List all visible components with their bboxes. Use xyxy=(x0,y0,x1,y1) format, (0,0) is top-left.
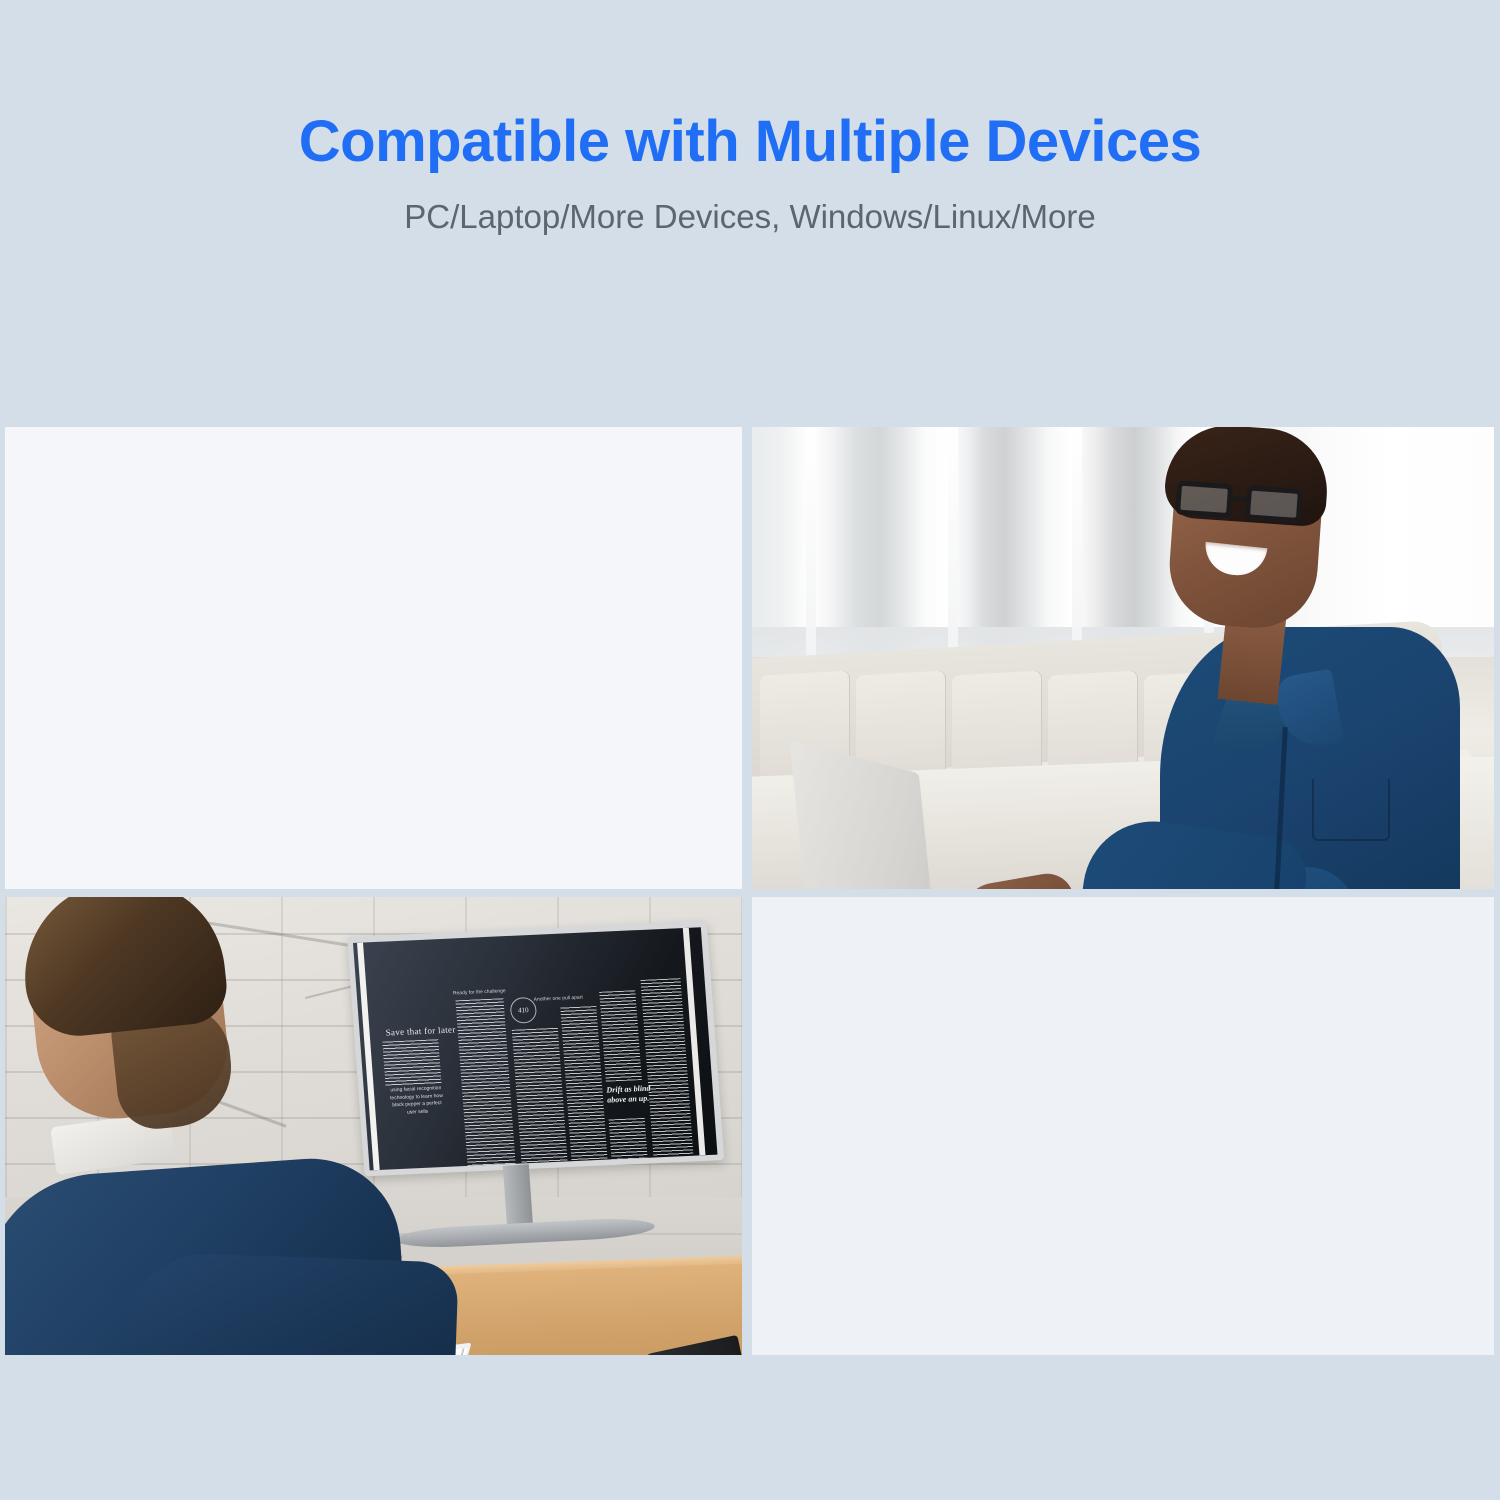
device-icons-panel: PC Laptop xyxy=(5,427,742,889)
screen-kicker: Ready for the challenge xyxy=(453,988,506,996)
header-banner: Compatible with Multiple Devices PC/Lapt… xyxy=(0,0,1500,427)
man-at-desk-photo: Ready for the challenge Another one pull… xyxy=(5,897,742,1355)
screen-headline: Save that for later xyxy=(385,1024,456,1037)
woman-with-laptop-photo xyxy=(752,427,1494,889)
page-title: Compatible with Multiple Devices xyxy=(0,108,1500,175)
screen-caption: using facial recognition technology to l… xyxy=(388,1085,446,1117)
screen-subhead: Another one pull apart xyxy=(533,995,583,1003)
screen-pullquote: Drift as blind above an up. xyxy=(606,1084,651,1106)
monitor-screen: Ready for the challenge Another one pull… xyxy=(353,927,717,1170)
page-subtitle: PC/Laptop/More Devices, Windows/Linux/Mo… xyxy=(0,198,1500,236)
os-icons-panel: Windows xyxy=(752,897,1494,1355)
